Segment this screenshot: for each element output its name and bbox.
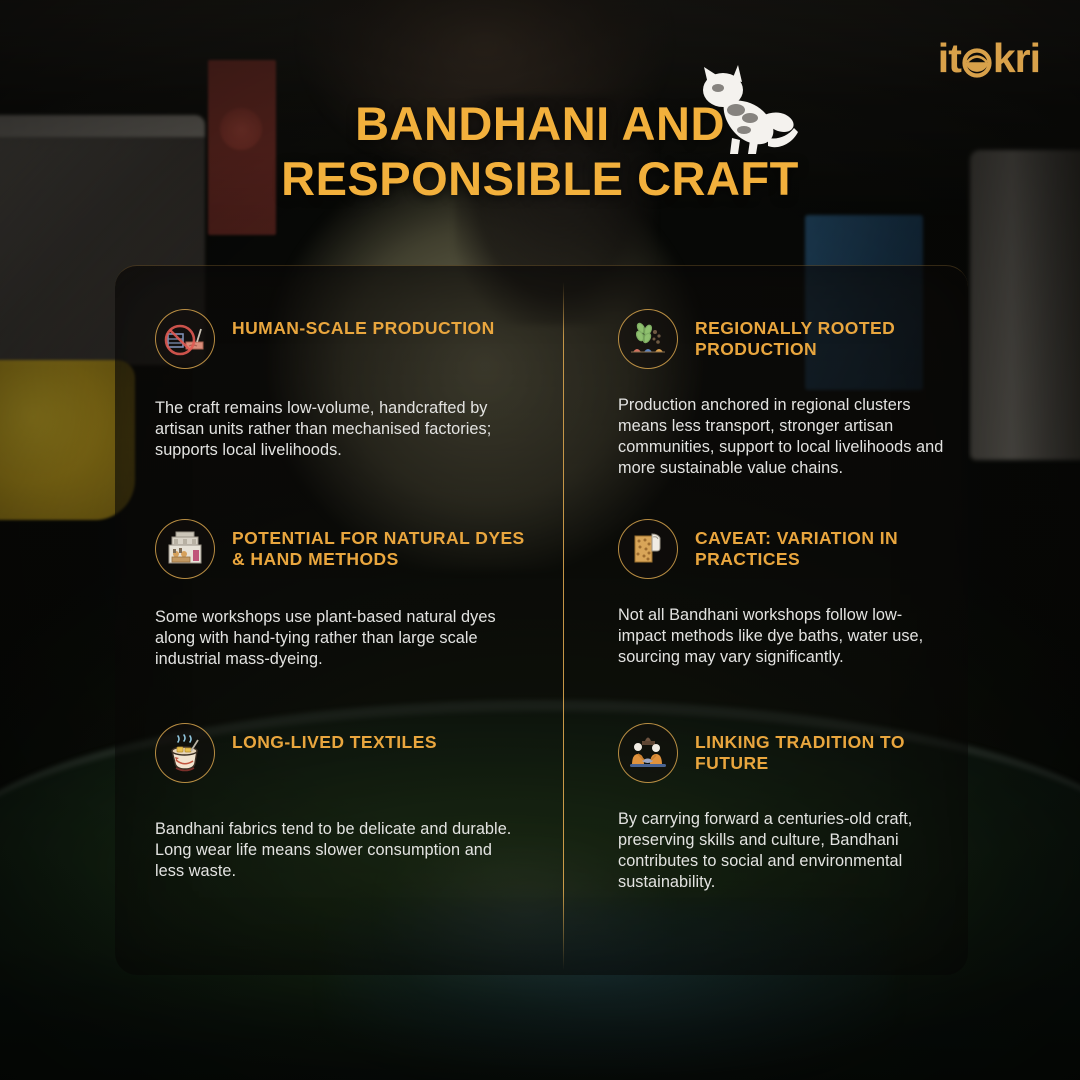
feature-card-regionally-rooted-production: REGIONALLY ROOTED PRODUCTION Production … xyxy=(563,265,968,475)
card-body: By carrying forward a centuries-old craf… xyxy=(618,809,944,892)
basket-icon xyxy=(962,44,992,74)
card-body: Some workshops use plant-based natural d… xyxy=(155,607,525,670)
feature-card-linking-tradition-to-future: LINKING TRADITION TO FUTURE By carrying … xyxy=(563,685,968,975)
card-body: Production anchored in regional clusters… xyxy=(618,395,944,478)
card-title: HUMAN-SCALE PRODUCTION xyxy=(232,309,495,339)
card-body: Not all Bandhani workshops follow low-im… xyxy=(618,605,944,668)
card-header: CAVEAT: VARIATION IN PRACTICES xyxy=(618,519,944,579)
logo-text-kri: kri xyxy=(993,38,1040,79)
page-title-line-2: RESPONSIBLE CRAFT xyxy=(281,152,799,205)
infographic-canvas: it kri BANDHANI AND RESPONSIBLE CRAFT xyxy=(0,0,1080,1080)
feature-card-natural-dyes-hand-methods: POTENTIAL FOR NATURAL DYES & HAND METHOD… xyxy=(115,475,563,685)
artisan-workshop-icon xyxy=(155,519,215,579)
no-factory-icon xyxy=(155,309,215,369)
card-body: Bandhani fabrics tend to be delicate and… xyxy=(155,819,525,882)
card-body: The craft remains low-volume, handcrafte… xyxy=(155,398,525,461)
card-header: REGIONALLY ROOTED PRODUCTION xyxy=(618,309,944,369)
dye-pot-icon xyxy=(155,723,215,783)
card-header: POTENTIAL FOR NATURAL DYES & HAND METHOD… xyxy=(155,519,525,579)
card-title: POTENTIAL FOR NATURAL DYES & HAND METHOD… xyxy=(232,519,525,570)
card-header: LONG-LIVED TEXTILES xyxy=(155,723,525,783)
brand-logo[interactable]: it kri xyxy=(938,38,1040,79)
feature-card-caveat-variation-in-practices: CAVEAT: VARIATION IN PRACTICES Not all B… xyxy=(563,475,968,685)
feature-card-long-lived-textiles: LONG-LIVED TEXTILES Bandhani fabrics ten… xyxy=(115,685,563,975)
card-header: HUMAN-SCALE PRODUCTION xyxy=(155,309,525,369)
cat-illustration xyxy=(688,54,806,156)
page-title: BANDHANI AND RESPONSIBLE CRAFT xyxy=(0,96,1080,207)
natural-dye-plants-icon xyxy=(618,309,678,369)
card-title: CAVEAT: VARIATION IN PRACTICES xyxy=(695,519,944,570)
card-header: LINKING TRADITION TO FUTURE xyxy=(618,723,944,783)
feature-grid: HUMAN-SCALE PRODUCTION The craft remains… xyxy=(115,265,968,975)
card-title: LINKING TRADITION TO FUTURE xyxy=(695,723,944,774)
card-title: REGIONALLY ROOTED PRODUCTION xyxy=(695,309,944,360)
logo-text-it: it xyxy=(938,38,961,79)
card-title: LONG-LIVED TEXTILES xyxy=(232,723,437,753)
page-title-line-1: BANDHANI AND xyxy=(355,97,725,150)
two-artisans-icon xyxy=(618,723,678,783)
feature-card-human-scale-production: HUMAN-SCALE PRODUCTION The craft remains… xyxy=(115,265,563,475)
hand-holding-fabric-icon xyxy=(618,519,678,579)
